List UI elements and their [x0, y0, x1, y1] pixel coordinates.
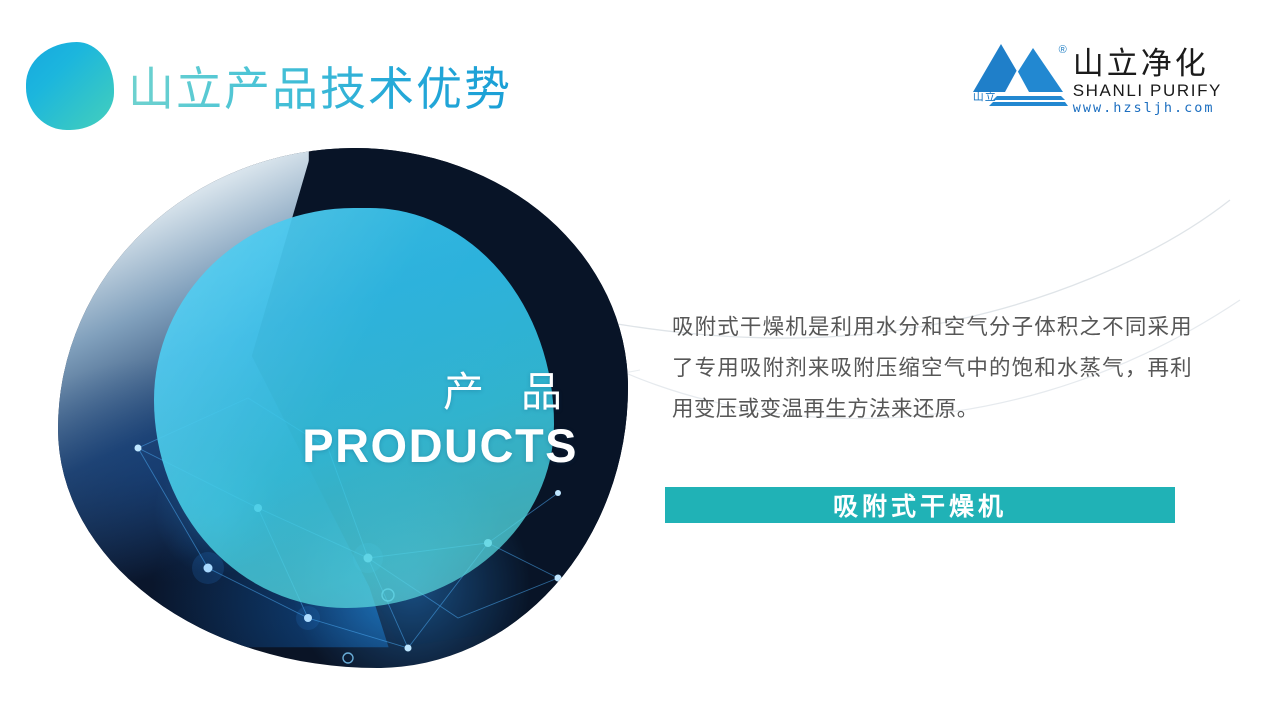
registered-trademark-icon: ® — [1059, 44, 1067, 56]
logo-mark-caption: 山立 — [973, 88, 997, 104]
product-name-label: 吸附式干燥机 — [833, 487, 1007, 523]
logo-company-en: SHANLI PURIFY — [1073, 81, 1222, 100]
product-blob-label: 产 品 PRODUCTS — [208, 366, 578, 474]
header-blob-icon — [26, 42, 114, 130]
page-title: 山立产品技术优势 — [128, 58, 512, 120]
product-name-banner[interactable]: 吸附式干燥机 — [665, 487, 1175, 523]
company-logo: ® 山立 山立净化 SHANLI PURIFY www.hzsljh.com — [971, 36, 1222, 116]
slide-canvas: 山立产品技术优势 ® 山立 山立净化 SHANLI PURIFY www.hzs… — [0, 0, 1280, 720]
logo-website: www.hzsljh.com — [1073, 100, 1222, 116]
product-graphic: 产 品 PRODUCTS — [58, 148, 628, 668]
product-description: 吸附式干燥机是利用水分和空气分子体积之不同采用了专用吸附剂来吸附压缩空气中的饱和… — [672, 307, 1192, 430]
shanli-mountain-logo-icon: ® 山立 — [971, 36, 1069, 112]
logo-company-cn: 山立净化 — [1073, 48, 1222, 81]
product-label-en: PRODUCTS — [208, 418, 578, 474]
product-label-cn: 产 品 — [208, 366, 578, 418]
logo-text-block: 山立净化 SHANLI PURIFY www.hzsljh.com — [1073, 36, 1222, 116]
